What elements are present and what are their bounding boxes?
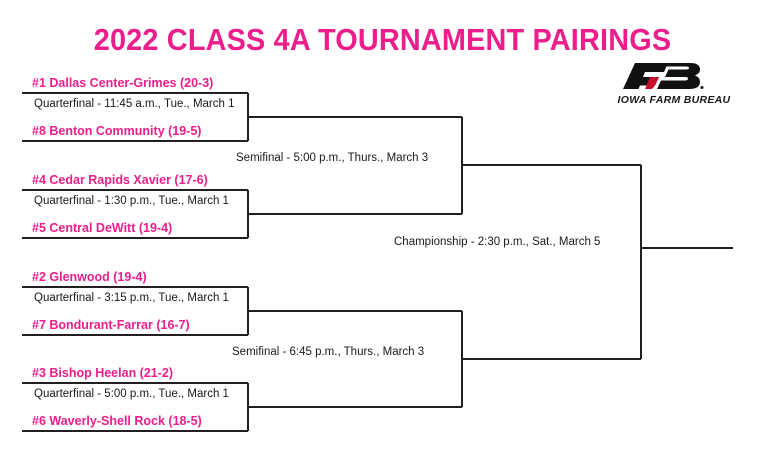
team-name-seed-5: #5 Central DeWitt (19-4) bbox=[22, 221, 172, 236]
team-name-seed-2: #2 Glenwood (19-4) bbox=[22, 270, 147, 285]
game-label-quarterfinal-1: Quarterfinal - 11:45 a.m., Tue., March 1 bbox=[22, 97, 235, 111]
game-label-quarterfinal-3: Quarterfinal - 3:15 p.m., Tue., March 1 bbox=[22, 291, 229, 305]
team-name-seed-3: #3 Bishop Heelan (21-2) bbox=[22, 366, 173, 381]
team-name-seed-7: #7 Bondurant-Farrar (16-7) bbox=[22, 318, 190, 333]
team-name-seed-8: #8 Benton Community (19-5) bbox=[22, 124, 201, 139]
game-label-championship: Championship - 2:30 p.m., Sat., March 5 bbox=[394, 236, 600, 248]
team-name-seed-1: #1 Dallas Center-Grimes (20-3) bbox=[22, 76, 258, 91]
matchup-quarterfinal-1: #1 Dallas Center-Grimes (20-3) bbox=[22, 76, 258, 91]
farm-bureau-mark-icon bbox=[620, 60, 704, 93]
game-label-quarterfinal-2: Quarterfinal - 1:30 p.m., Tue., March 1 bbox=[22, 194, 229, 208]
logo-wordmark: IOWA FARM BUREAU bbox=[612, 94, 736, 106]
page-title: 2022 CLASS 4A TOURNAMENT PAIRINGS bbox=[27, 22, 738, 58]
game-label-semifinal-1: Semifinal - 5:00 p.m., Thurs., March 3 bbox=[236, 152, 428, 164]
team-name-seed-4: #4 Cedar Rapids Xavier (17-6) bbox=[22, 173, 208, 188]
iowa-farm-bureau-logo: IOWA FARM BUREAU bbox=[612, 60, 736, 110]
team-name-seed-6: #6 Waverly-Shell Rock (18-5) bbox=[22, 414, 202, 429]
tournament-bracket-page: 2022 CLASS 4A TOURNAMENT PAIRINGS IOWA F… bbox=[0, 0, 765, 464]
game-label-semifinal-2: Semifinal - 6:45 p.m., Thurs., March 3 bbox=[232, 346, 424, 358]
game-label-quarterfinal-4: Quarterfinal - 5:00 p.m., Tue., March 1 bbox=[22, 387, 229, 401]
